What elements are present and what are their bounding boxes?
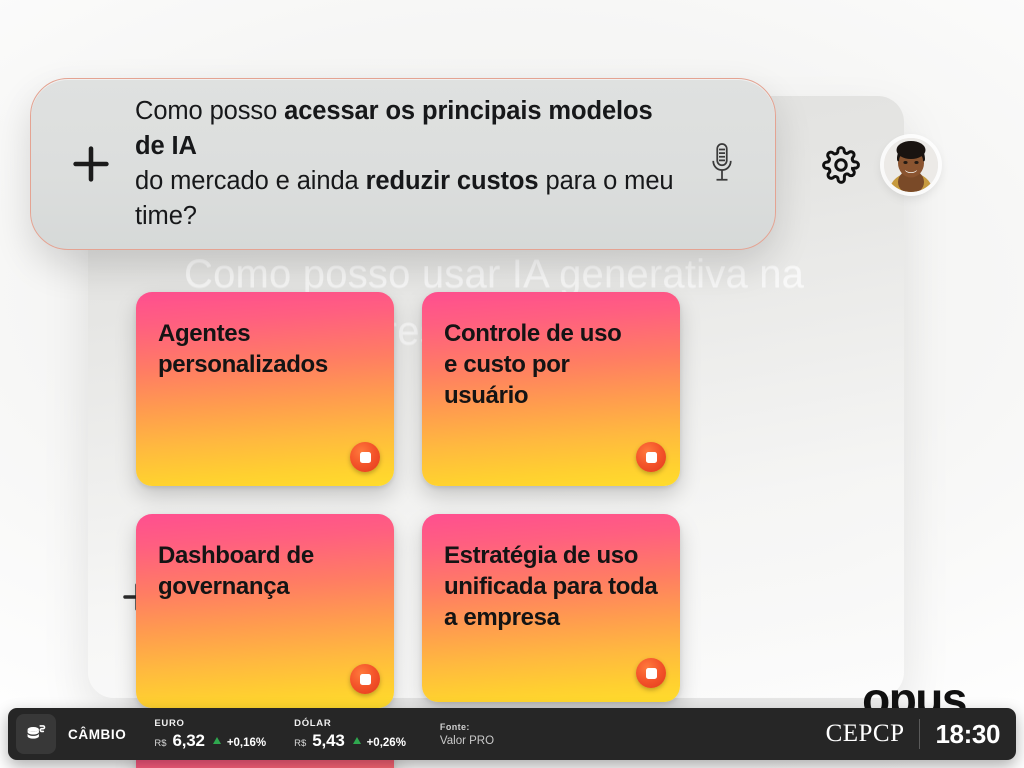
card-title: Controle de uso e custo por usuário [444, 318, 658, 412]
card-action-button[interactable] [350, 664, 380, 694]
quote-name: DÓLAR [294, 718, 406, 729]
channel-logo: CEPCP [826, 720, 919, 748]
suggestion-card[interactable]: Controle de uso e custo por usuário [422, 292, 680, 486]
microphone-button[interactable] [695, 133, 749, 195]
avatar[interactable] [884, 138, 938, 192]
suggestion-card-grid: Agentes personalizados Controle de uso e… [136, 292, 954, 768]
prompt-line1-prefix: Como posso [135, 97, 284, 125]
card-title: Acesso aos principais modelos de IA com … [158, 762, 372, 768]
quote-currency: R$ [154, 738, 166, 749]
plus-icon [70, 143, 112, 185]
card-title: Dashboard de governança [158, 540, 372, 602]
prompt-input-bar[interactable]: Como posso acessar os principais modelos… [30, 78, 776, 250]
settings-button[interactable] [820, 144, 862, 186]
prompt-line-1: Como posso acessar os principais modelos… [135, 94, 677, 164]
quote-value: 5,43 [312, 731, 344, 751]
prompt-text[interactable]: Como posso acessar os principais modelos… [135, 94, 677, 235]
suggestion-card[interactable]: Dashboard de governança [136, 514, 394, 708]
arrow-up-icon [353, 737, 361, 744]
suggestion-card[interactable]: Estratégia de uso unificada para toda a … [422, 514, 680, 702]
arrow-up-icon [213, 737, 221, 744]
stop-square-icon [360, 674, 371, 685]
app-background: Como posso usar IA generativa na minha e… [0, 0, 1024, 768]
suggestion-card[interactable]: Agentes personalizados [136, 292, 394, 486]
card-action-button[interactable] [350, 442, 380, 472]
clock-time: 18:30 [920, 719, 1011, 750]
quote-value: 6,32 [173, 731, 205, 751]
prompt-line2-prefix: do mercado e ainda [135, 167, 366, 195]
quote-euro: EURO R$ 6,32 +0,16% [154, 718, 266, 751]
prompt-line2-bold: reduzir custos [366, 167, 539, 195]
prompt-add-button[interactable] [65, 138, 117, 190]
gear-icon [822, 146, 860, 184]
source-value: Valor PRO [440, 735, 494, 747]
ticker-source: Fonte: Valor PRO [440, 722, 494, 747]
prompt-line-2: do mercado e ainda reduzir custos para o… [135, 164, 677, 234]
user-avatar [884, 138, 938, 192]
microphone-icon [707, 141, 737, 187]
ticker-label: CÂMBIO [68, 727, 126, 742]
stop-square-icon [646, 668, 657, 679]
card-title: Agentes personalizados [158, 318, 372, 380]
card-title: Estratégia de uso unificada para toda a … [444, 540, 658, 634]
quote-change: +0,26% [367, 737, 406, 749]
quote-dolar: DÓLAR R$ 5,43 +0,26% [294, 718, 406, 751]
source-label: Fonte: [440, 722, 494, 732]
stop-square-icon [360, 452, 371, 463]
quote-change: +0,16% [227, 737, 266, 749]
stop-square-icon [646, 452, 657, 463]
bottom-ticker-bar: CÂMBIO EURO R$ 6,32 +0,16% DÓLAR R$ 5,43… [8, 708, 1016, 760]
quote-name: EURO [154, 718, 266, 729]
quote-row: R$ 6,32 +0,16% [154, 731, 266, 751]
card-action-button[interactable] [636, 658, 666, 688]
ticker-badge [16, 714, 56, 754]
quote-currency: R$ [294, 738, 306, 749]
card-action-button[interactable] [636, 442, 666, 472]
quote-row: R$ 5,43 +0,26% [294, 731, 406, 751]
coins-stack-icon [25, 723, 47, 745]
top-right-controls [820, 138, 938, 192]
